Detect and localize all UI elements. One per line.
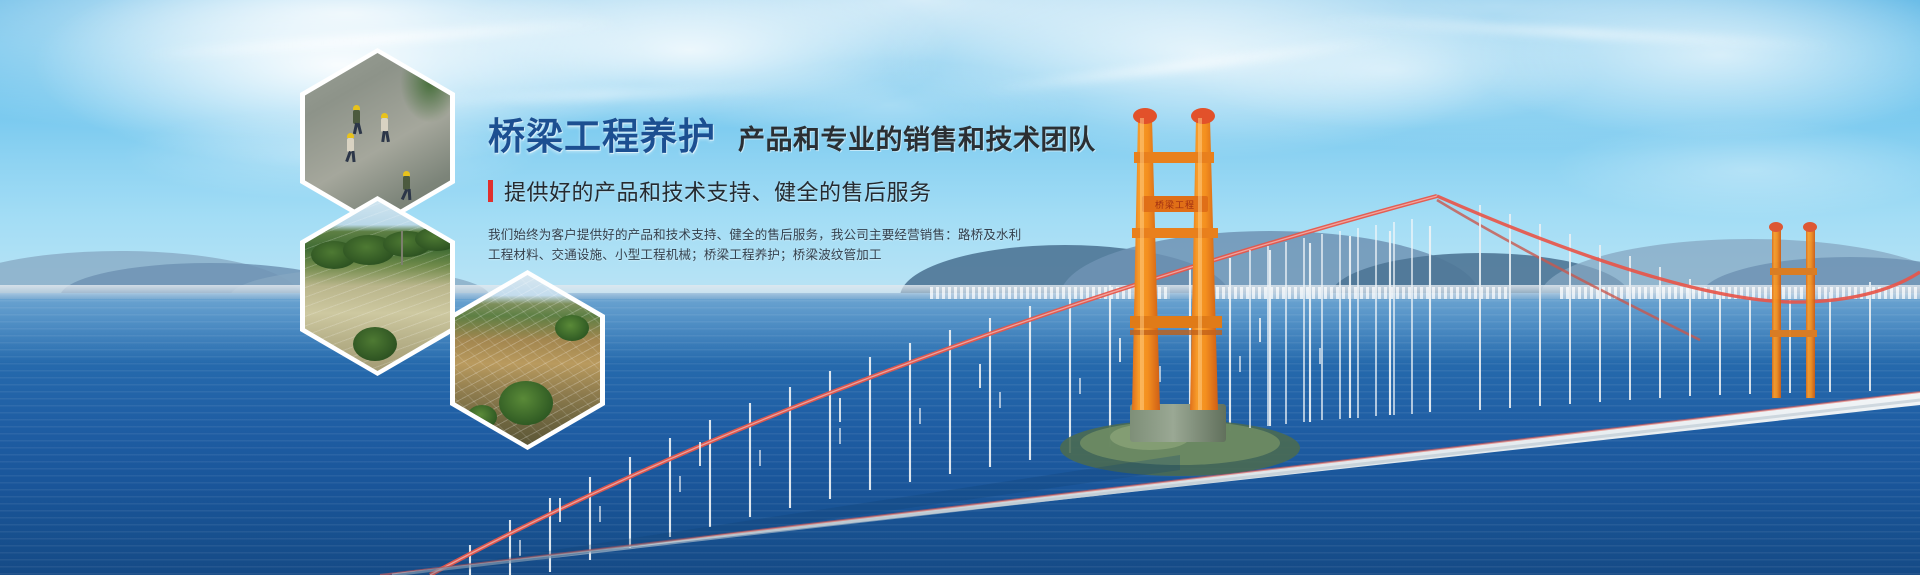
headline: 桥梁工程养护 产品和专业的销售和技术团队 — [488, 118, 1248, 155]
tagline: 提供好的产品和技术支持、健全的售后服务 — [488, 175, 1248, 207]
photo-dirt-slope-netting — [455, 275, 600, 445]
headline-sub: 产品和专业的销售和技术团队 — [738, 127, 1096, 154]
hex-photo-collage — [0, 0, 560, 500]
description-line-1: 我们始终为客户提供好的产品和技术支持、健全的售后服务，我公司主要经营销售：路桥及… — [488, 225, 1248, 245]
banner-copy: 桥梁工程养护 产品和专业的销售和技术团队 提供好的产品和技术支持、健全的售后服务… — [488, 118, 1248, 265]
photo-green-slope-netting — [305, 201, 450, 371]
tagline-text: 提供好的产品和技术支持、健全的售后服务 — [504, 175, 932, 207]
hex-photo-green-slope-netting[interactable] — [300, 196, 455, 376]
red-accent-bar — [488, 180, 493, 202]
headline-main: 桥梁工程养护 — [488, 118, 716, 155]
description-line-2: 工程材料、交通设施、小型工程机械；桥梁工程养护；桥梁波纹管加工 — [488, 245, 1248, 265]
description: 我们始终为客户提供好的产品和技术支持、健全的售后服务，我公司主要经营销售：路桥及… — [488, 225, 1248, 265]
hero-banner: 桥梁工程 — [0, 0, 1920, 575]
